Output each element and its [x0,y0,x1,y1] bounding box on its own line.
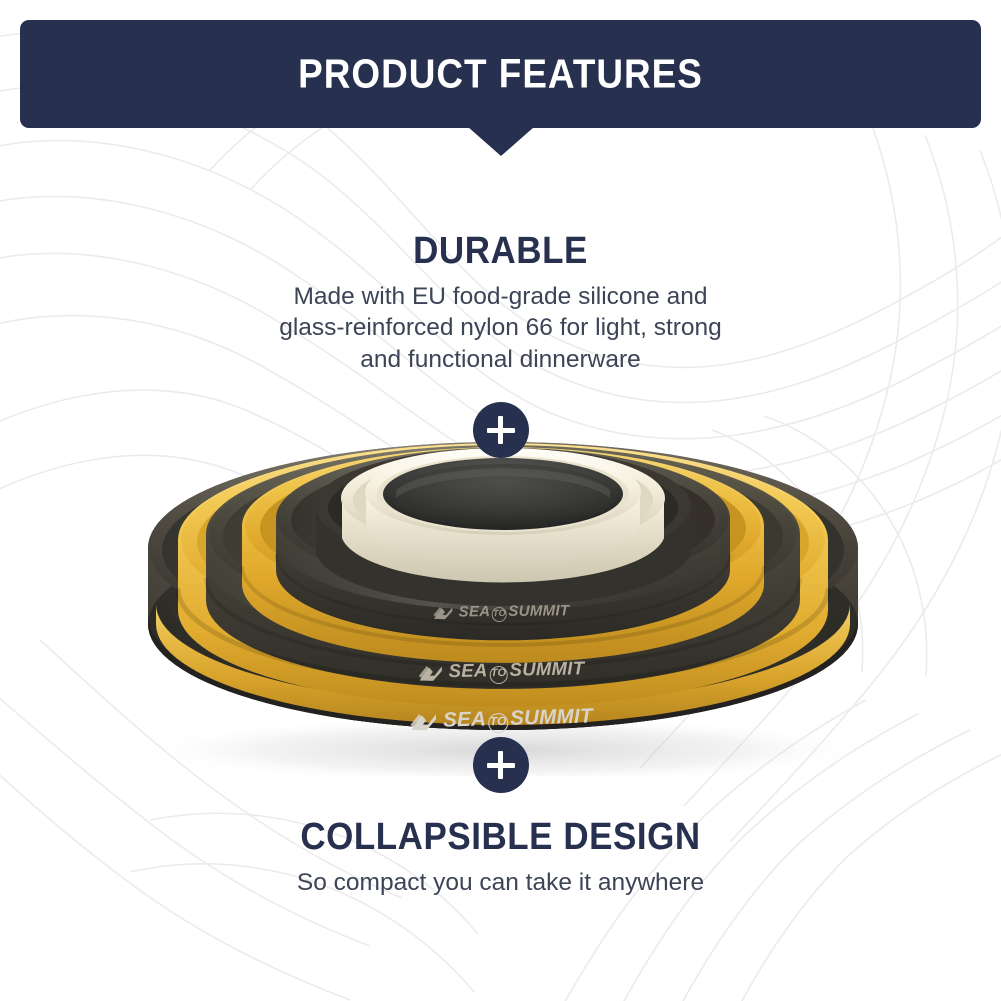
header-banner: PRODUCT FEATURES [20,20,981,128]
feature-body-line: Made with EU food-grade silicone and [0,281,1001,312]
sea-to-summit-mountain-icon [417,664,443,683]
brand-logo: SEATOSUMMIT [432,602,569,622]
brand-last: SUMMIT [508,602,569,620]
sea-to-summit-mountain-icon [432,605,453,620]
feature-heading-durable: DURABLE [40,232,961,272]
plus-icon [473,402,529,458]
page-title: PRODUCT FEATURES [68,51,933,98]
feature-body-collapsible: So compact you can take it anywhere [0,867,1001,898]
brand-middle: TO [488,713,509,734]
brand-middle: TO [491,607,506,622]
brand-name: SEATOSUMMIT [442,704,592,734]
feature-body-durable: Made with EU food-grade silicone and gla… [0,281,1001,375]
feature-body-line: glass-reinforced nylon 66 for light, str… [0,312,1001,343]
brand-last: SUMMIT [509,704,592,729]
feature-block-durable: DURABLE Made with EU food-grade silicone… [0,232,1001,375]
brand-name: SEATOSUMMIT [458,602,569,622]
brand-name: SEATOSUMMIT [448,657,584,685]
brand-middle: TO [489,666,507,684]
plus-icon-vertical-bar [498,751,503,779]
feature-body-line: and functional dinnerware [0,344,1001,375]
sea-to-summit-mountain-icon [408,712,438,733]
brand-logo: SEATOSUMMIT [408,704,592,735]
plus-icon-vertical-bar [498,416,503,444]
banner-notch [468,127,534,156]
plus-icon [473,737,529,793]
brand-first: SEA [442,707,486,731]
feature-block-collapsible: COLLAPSIBLE DESIGN So compact you can ta… [0,818,1001,898]
brand-logo: SEATOSUMMIT [417,657,584,685]
brand-first: SEA [458,603,490,620]
brand-last: SUMMIT [509,657,584,680]
product-features-infographic: PRODUCT FEATURES DURABLE Made with EU fo… [0,0,1001,1001]
feature-body-line: So compact you can take it anywhere [0,867,1001,898]
brand-first: SEA [448,659,487,681]
feature-heading-collapsible: COLLAPSIBLE DESIGN [40,818,961,858]
